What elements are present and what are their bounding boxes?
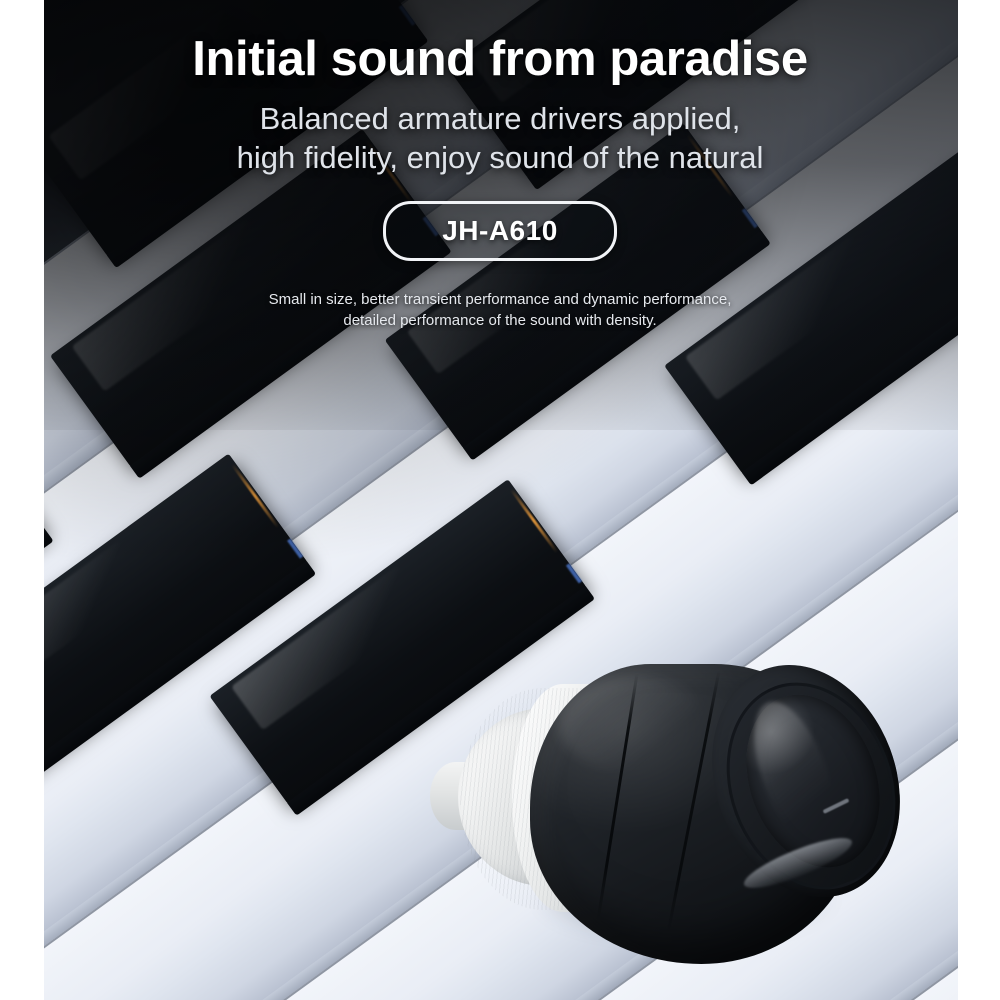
subtitle-line-2: high fidelity, enjoy sound of the natura…	[0, 138, 1000, 177]
banner-text-block: Initial sound from paradise Balanced arm…	[0, 0, 1000, 332]
headline: Initial sound from paradise	[0, 34, 1000, 85]
earbud-product-image	[430, 628, 930, 973]
product-description: Small in size, better transient performa…	[265, 289, 735, 332]
model-number-badge: JH-A610	[383, 201, 617, 261]
product-banner: Initial sound from paradise Balanced arm…	[0, 0, 1000, 1000]
subtitle-line-1: Balanced armature drivers applied,	[0, 99, 1000, 138]
model-badge-container: JH-A610	[0, 201, 1000, 261]
